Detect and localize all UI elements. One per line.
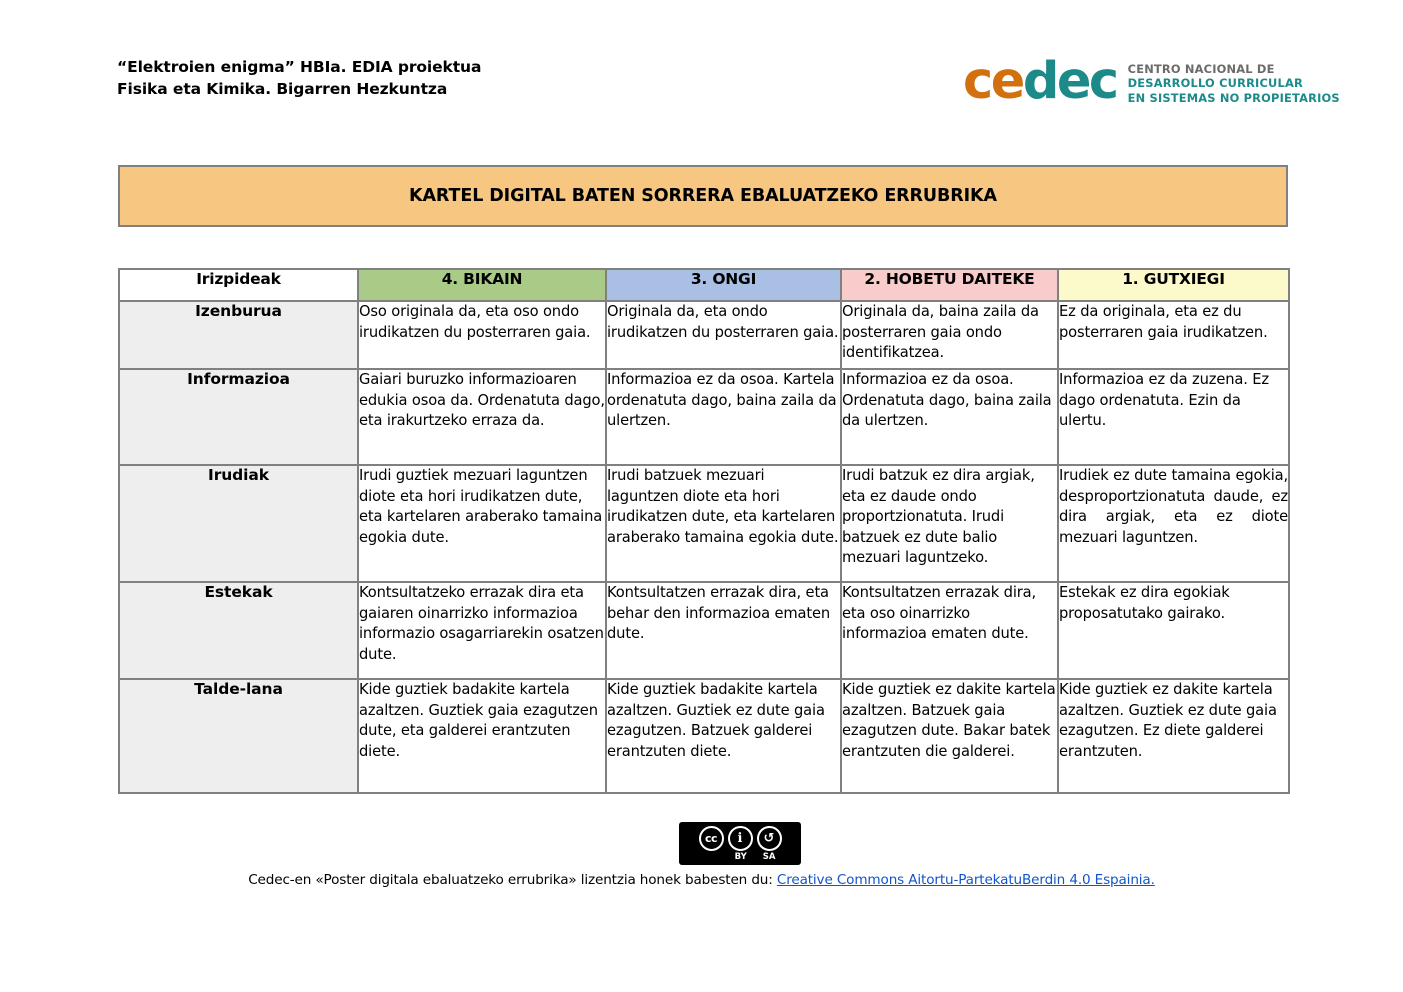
- table-row: Talde-lana Kide guztiek badakite kartela…: [119, 679, 1289, 793]
- rubric-header-level-2: 2. HOBETU DAITEKE: [841, 269, 1058, 301]
- cc-by-icon: ℹ: [728, 826, 753, 851]
- subtitle-line-2: Fisika eta Kimika. Bigarren Hezkuntza: [117, 78, 481, 100]
- creative-commons-badge-icon: cc ℹ ↺ BY SA: [679, 822, 801, 865]
- cell-izenburua-level-2: Originala da, baina zaila da posterraren…: [841, 301, 1058, 369]
- license-link[interactable]: Creative Commons Aitortu-PartekatuBerdin…: [777, 872, 1155, 888]
- cell-talde-lana-level-1: Kide guztiek ez dakite kartela azaltzen.…: [1058, 679, 1289, 793]
- rubric-header-row: Irizpideak 4. BIKAIN 3. ONGI 2. HOBETU D…: [119, 269, 1289, 301]
- cell-estekak-level-1: Estekak ez dira egokiak proposatutako ga…: [1058, 582, 1289, 679]
- license-notice-text: Cedec-en «Poster digitala ebaluatzeko er…: [248, 872, 777, 888]
- cedec-logo: cedec CENTRO NACIONAL DE DESARROLLO CURR…: [963, 57, 1340, 107]
- cell-izenburua-level-3: Originala da, eta ondo irudikatzen du po…: [606, 301, 841, 369]
- criterion-estekak: Estekak: [119, 582, 358, 679]
- cell-informazioa-level-3: Informazioa ez da osoa. Kartela ordenatu…: [606, 369, 841, 465]
- cell-izenburua-level-1: Ez da originala, eta ez du posterraren g…: [1058, 301, 1289, 369]
- rubric-header-level-1: 1. GUTXIEGI: [1058, 269, 1289, 301]
- cedec-tagline-line-2: DESARROLLO CURRICULAR: [1128, 76, 1340, 91]
- cc-by-label: BY: [735, 852, 747, 862]
- criterion-irudiak: Irudiak: [119, 465, 358, 582]
- rubric-header-level-4: 4. BIKAIN: [358, 269, 606, 301]
- table-row: Estekak Kontsultatzeko errazak dira eta …: [119, 582, 1289, 679]
- cell-informazioa-level-4: Gaiari buruzko informazioaren edukia oso…: [358, 369, 606, 465]
- license-notice: Cedec-en «Poster digitala ebaluatzeko er…: [0, 872, 1403, 888]
- cc-icon-group: cc ℹ ↺: [699, 822, 782, 851]
- cell-irudiak-level-1: Irudiek ez dute tamaina egokia, despropo…: [1058, 465, 1289, 582]
- subtitle-line-1: “Elektroien enigma” HBIa. EDIA proiektua: [117, 56, 481, 78]
- criterion-izenburua: Izenburua: [119, 301, 358, 369]
- cell-talde-lana-level-4: Kide guztiek badakite kartela azaltzen. …: [358, 679, 606, 793]
- cell-irudiak-level-4: Irudi guztiek mezuari laguntzen diote et…: [358, 465, 606, 582]
- cedec-tagline-line-1: CENTRO NACIONAL DE: [1128, 62, 1340, 77]
- cell-irudiak-level-3: Irudi batzuek mezuari laguntzen diote et…: [606, 465, 841, 582]
- cedec-wordmark-dec: dec: [1023, 52, 1117, 111]
- table-row: Izenburua Oso originala da, eta oso ondo…: [119, 301, 1289, 369]
- document-subtitle: “Elektroien enigma” HBIa. EDIA proiektua…: [117, 56, 481, 100]
- cedec-wordmark-ce: ce: [963, 52, 1023, 111]
- cc-label-group: BY SA: [705, 852, 776, 862]
- cc-sa-icon: ↺: [757, 826, 782, 851]
- cedec-tagline-line-3: EN SISTEMAS NO PROPIETARIOS: [1128, 91, 1340, 106]
- rubric-header-level-3: 3. ONGI: [606, 269, 841, 301]
- cell-izenburua-level-4: Oso originala da, eta oso ondo irudikatz…: [358, 301, 606, 369]
- criterion-informazioa: Informazioa: [119, 369, 358, 465]
- cell-estekak-level-3: Kontsultatzen errazak dira, eta behar de…: [606, 582, 841, 679]
- criterion-talde-lana: Talde-lana: [119, 679, 358, 793]
- rubric-title-banner: KARTEL DIGITAL BATEN SORRERA EBALUATZEKO…: [118, 165, 1288, 227]
- page-header: “Elektroien enigma” HBIa. EDIA proiektua…: [0, 0, 1403, 140]
- cell-talde-lana-level-3: Kide guztiek badakite kartela azaltzen. …: [606, 679, 841, 793]
- cedec-wordmark: cedec: [963, 57, 1117, 107]
- cc-sa-label: SA: [763, 852, 776, 862]
- rubric-table: Irizpideak 4. BIKAIN 3. ONGI 2. HOBETU D…: [118, 268, 1290, 794]
- rubric-title-text: KARTEL DIGITAL BATEN SORRERA EBALUATZEKO…: [409, 186, 997, 206]
- cell-informazioa-level-1: Informazioa ez da zuzena. Ez dago ordena…: [1058, 369, 1289, 465]
- cell-informazioa-level-2: Informazioa ez da osoa. Ordenatuta dago,…: [841, 369, 1058, 465]
- cell-estekak-level-4: Kontsultatzeko errazak dira eta gaiaren …: [358, 582, 606, 679]
- rubric-header-criteria: Irizpideak: [119, 269, 358, 301]
- cell-estekak-level-2: Kontsultatzen errazak dira, eta oso oina…: [841, 582, 1058, 679]
- table-row: Informazioa Gaiari buruzko informazioare…: [119, 369, 1289, 465]
- cedec-tagline: CENTRO NACIONAL DE DESARROLLO CURRICULAR…: [1128, 59, 1340, 106]
- table-row: Irudiak Irudi guztiek mezuari laguntzen …: [119, 465, 1289, 582]
- cell-irudiak-level-2: Irudi batzuk ez dira argiak, eta ez daud…: [841, 465, 1058, 582]
- cell-talde-lana-level-2: Kide guztiek ez dakite kartela azaltzen.…: [841, 679, 1058, 793]
- cc-logo-icon: cc: [699, 826, 724, 851]
